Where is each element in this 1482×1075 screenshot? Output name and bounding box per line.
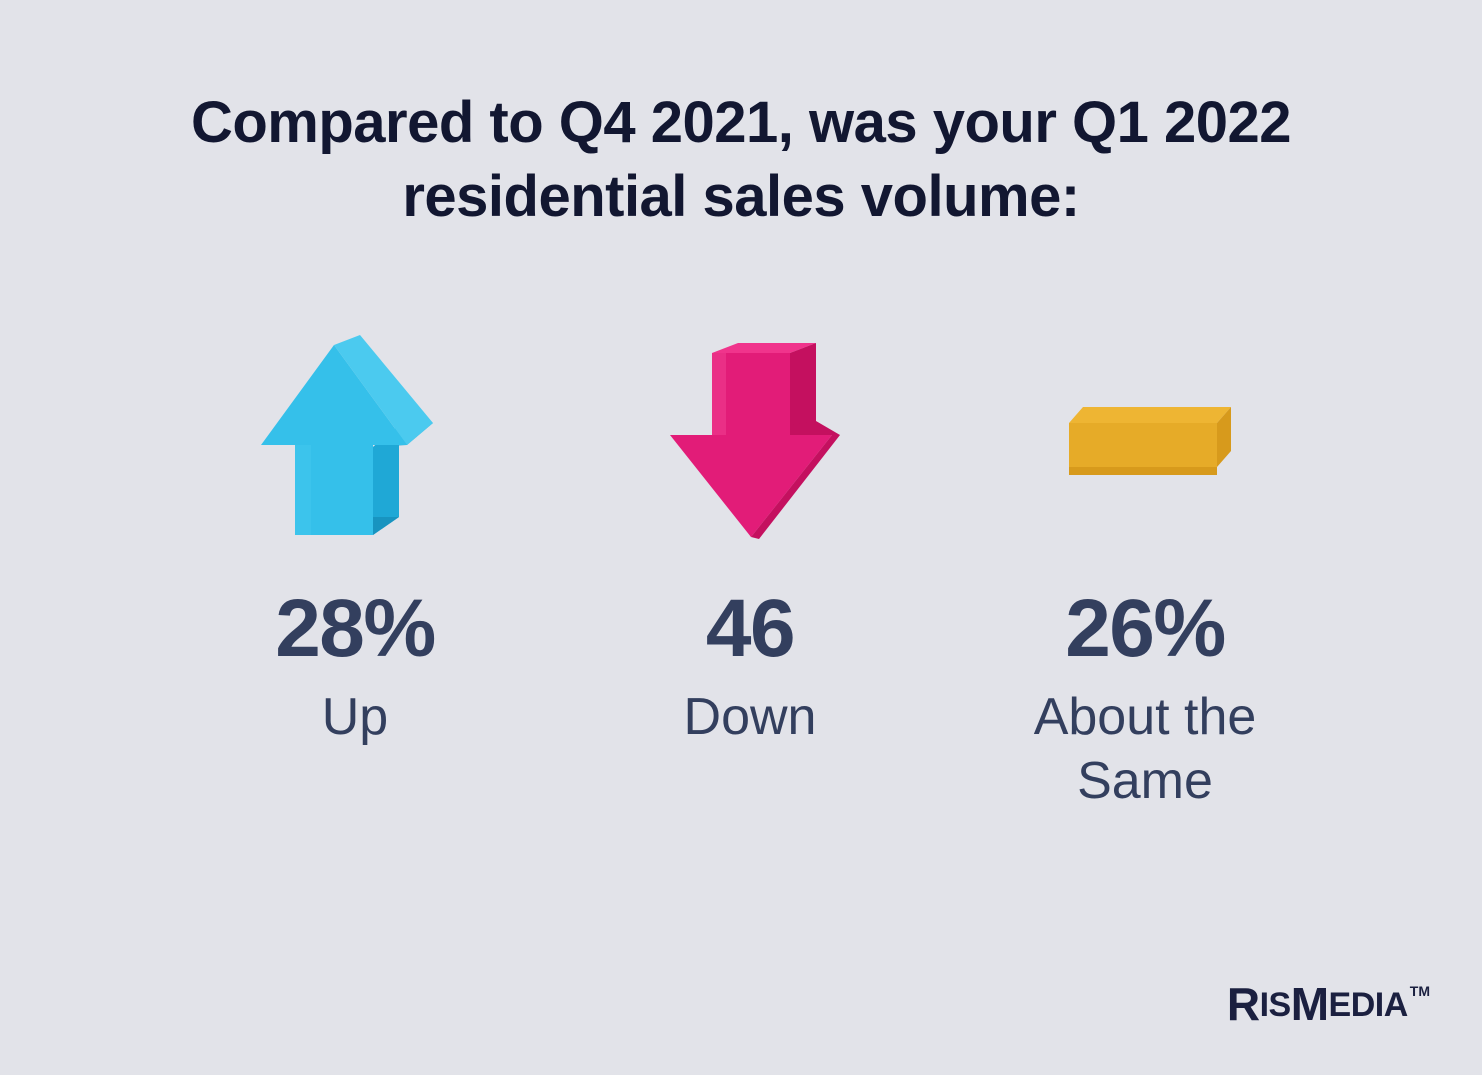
stats-row: 28% Up 46 Down <box>175 330 1325 813</box>
stat-value-down: 46 <box>706 587 794 671</box>
stat-card-up: 28% Up <box>175 330 535 749</box>
stat-label-down: Down <box>684 685 817 749</box>
icon-slot-down <box>570 330 930 545</box>
flat-bar-3d-icon <box>1045 335 1245 545</box>
stat-label-up: Up <box>322 685 388 749</box>
arrow-up-3d-icon <box>255 335 455 545</box>
stat-card-about-the-same: 26% About the Same <box>965 330 1325 813</box>
title-line-2: residential sales volume: <box>0 160 1482 234</box>
stat-value-up: 28% <box>275 587 435 671</box>
stat-card-down: 46 Down <box>570 330 930 749</box>
logo-letter-r: R <box>1227 981 1260 1027</box>
title-line-1: Compared to Q4 2021, was your Q1 2022 <box>0 86 1482 160</box>
icon-slot-up <box>175 330 535 545</box>
page-title: Compared to Q4 2021, was your Q1 2022 re… <box>0 86 1482 234</box>
icon-slot-about-the-same <box>965 330 1325 545</box>
logo-letters-edia: EDIA <box>1329 982 1408 1028</box>
arrow-down-3d-icon <box>650 335 850 545</box>
trademark-icon: TM <box>1410 984 1430 998</box>
stat-label-about-the-same: About the Same <box>1000 685 1290 813</box>
logo-letters-is: IS <box>1260 982 1291 1028</box>
stat-value-about-the-same: 26% <box>1065 587 1225 671</box>
rismedia-logo: R IS M EDIA TM <box>1227 981 1430 1027</box>
logo-letter-m: M <box>1291 981 1329 1027</box>
